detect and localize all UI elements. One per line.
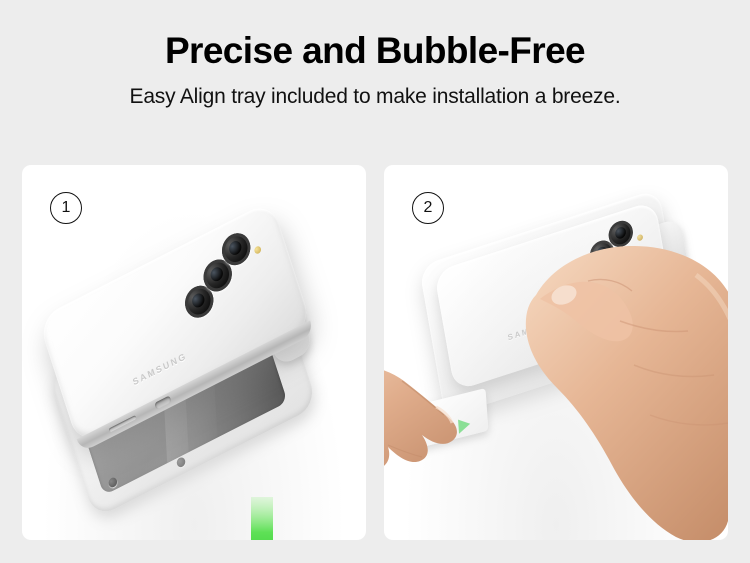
left-hand [384,333,494,540]
page-subtitle: Easy Align tray included to make install… [0,71,750,109]
step-cards-container: SAMSUNG 1 [22,165,728,540]
step-badge-2: 2 [412,192,444,224]
step-badge-1: 1 [50,192,82,224]
page-title: Precise and Bubble-Free [0,0,750,71]
camera-flash-icon [254,245,262,255]
step-card-2[interactable]: SAMSUNG [384,165,728,540]
camera-cluster [172,223,273,324]
usb-c-port [154,395,171,409]
step-card-1[interactable]: SAMSUNG 1 [22,165,366,540]
samsung-logo: SAMSUNG [132,350,189,387]
right-hand [500,203,728,540]
green-down-arrow-icon [234,497,290,540]
header: Precise and Bubble-Free Easy Align tray … [0,0,750,109]
